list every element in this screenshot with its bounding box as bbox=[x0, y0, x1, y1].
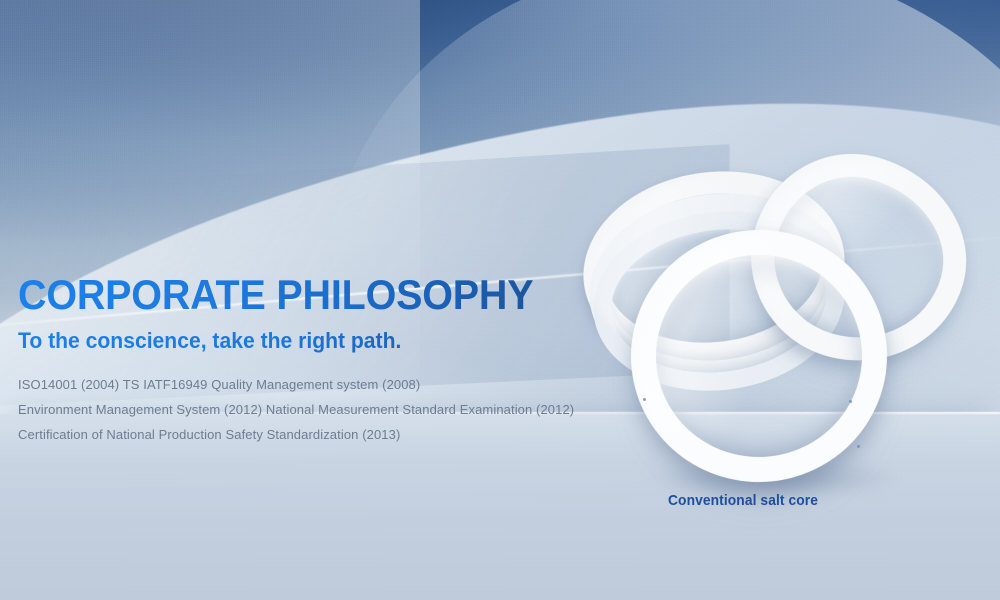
front-ring-pinhole-two bbox=[857, 445, 860, 448]
upper-right-ring-pinhole bbox=[849, 400, 852, 403]
certification-line: Environment Management System (2012) Nat… bbox=[18, 397, 638, 422]
page-subtitle: To the conscience, take the right path. bbox=[18, 328, 613, 354]
certification-line: ISO14001 (2004) TS IATF16949 Quality Man… bbox=[18, 372, 638, 397]
corporate-philosophy-banner: CORPORATE PHILOSOPHY To the conscience, … bbox=[0, 0, 1000, 600]
page-title: CORPORATE PHILOSOPHY bbox=[18, 272, 601, 318]
certification-list: ISO14001 (2004) TS IATF16949 Quality Man… bbox=[18, 372, 638, 447]
certification-line: Certification of National Production Saf… bbox=[18, 422, 638, 447]
product-caption: Conventional salt core bbox=[668, 492, 818, 510]
front-ring-pinhole bbox=[643, 398, 646, 401]
headline-text-block: CORPORATE PHILOSOPHY To the conscience, … bbox=[18, 272, 638, 447]
